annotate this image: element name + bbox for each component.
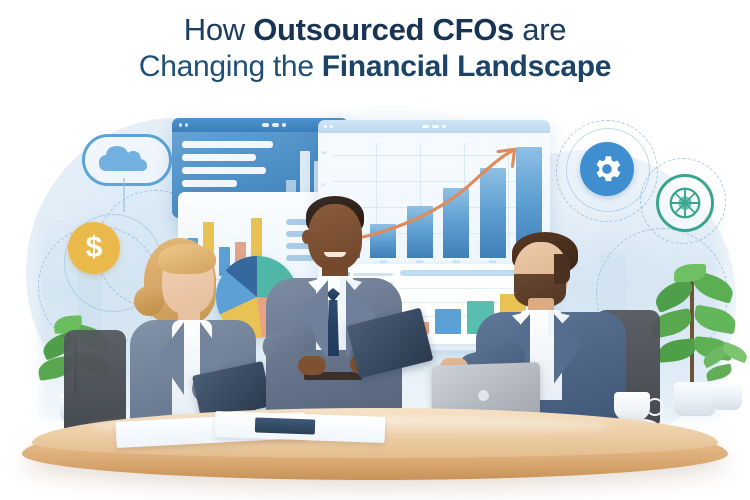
y-tick: 100	[321, 151, 326, 155]
tab-pill	[282, 123, 286, 126]
globe-network-icon	[656, 174, 714, 232]
mouth	[324, 252, 346, 257]
ear	[302, 230, 312, 244]
cloud-icon	[82, 134, 172, 186]
cloud-connector-line	[123, 178, 125, 212]
title-line-2: Changing the Financial Landscape	[0, 51, 750, 83]
y-tick: 75	[321, 183, 326, 187]
panel-back-tabs	[262, 123, 286, 126]
main-screen-titlebar	[318, 120, 550, 133]
illustration-canvas: $	[0, 0, 750, 500]
window-dot	[330, 125, 333, 128]
panel-back-text-lines	[182, 141, 277, 197]
necktie-body	[327, 300, 339, 356]
leaf	[692, 305, 737, 335]
coffee-cup-handle	[646, 398, 664, 416]
plant-stem	[690, 278, 694, 386]
main-screen-tabs	[422, 125, 446, 128]
bar	[300, 151, 310, 197]
tab-pill	[422, 125, 429, 128]
window-dot	[185, 123, 188, 126]
hair-front	[158, 244, 216, 274]
bar-q2	[435, 309, 461, 334]
tab-pill	[442, 125, 446, 128]
leaf	[721, 342, 750, 364]
hand-left	[298, 356, 326, 375]
laptop-logo	[478, 390, 489, 401]
potted-plant-small-right	[700, 344, 750, 420]
face	[308, 204, 362, 270]
title-line-2-pre: Changing the	[139, 50, 322, 83]
title-line-1-post: are	[514, 12, 566, 47]
text-line	[182, 154, 256, 161]
sideburn	[554, 254, 570, 284]
text-line	[182, 180, 237, 187]
title-line-1-strong: Outsourced CFOs	[253, 12, 514, 47]
page-title: How Outsourced CFOs are Changing the Fin…	[0, 14, 750, 82]
tab-pill	[272, 123, 279, 126]
report-chart-thumbnail	[255, 417, 315, 434]
text-line	[182, 141, 273, 148]
gear-icon	[580, 142, 634, 196]
presenter	[258, 196, 410, 426]
title-line-1: How Outsourced CFOs are	[0, 14, 750, 47]
tab-pill	[432, 125, 439, 128]
dollar-glyph: $	[86, 233, 103, 263]
window-dot	[324, 125, 327, 128]
tab-pill	[262, 123, 269, 126]
hair-bun	[134, 286, 164, 316]
dollar-coin-icon: $	[68, 222, 120, 274]
window-dot	[179, 123, 182, 126]
title-line-1-pre: How	[184, 12, 253, 47]
text-line	[182, 167, 266, 174]
title-line-2-strong: Financial Landscape	[322, 50, 611, 83]
plant-pot	[712, 384, 742, 410]
